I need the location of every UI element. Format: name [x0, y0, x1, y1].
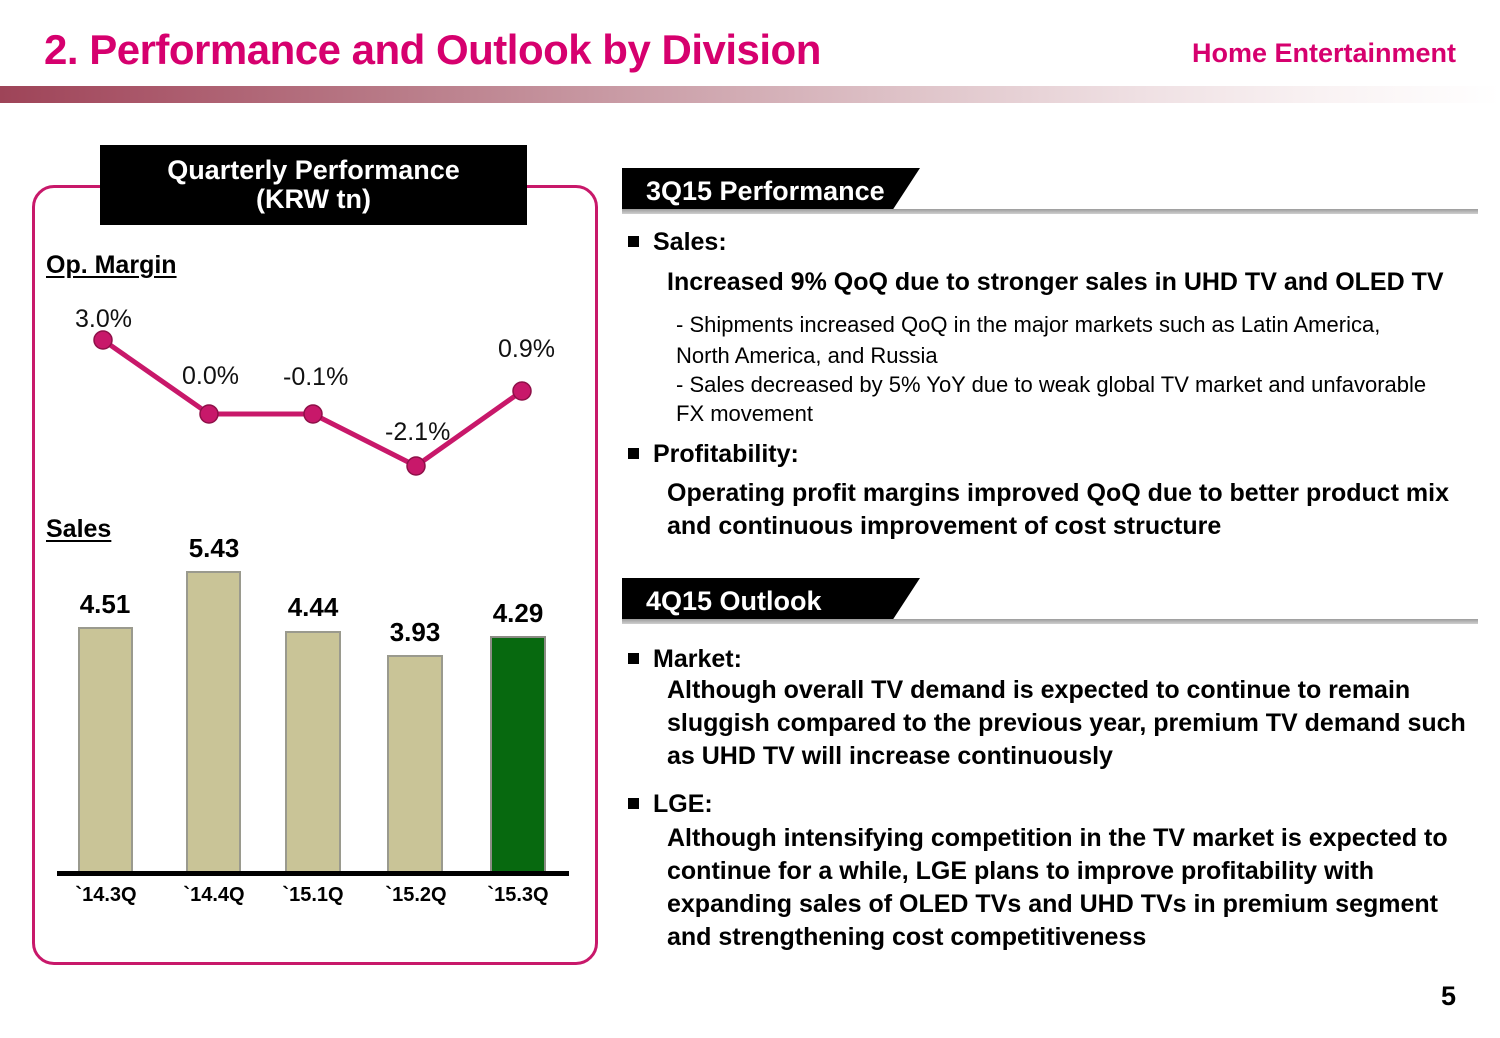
bar-15-2q — [387, 655, 443, 873]
square-bullet-icon — [628, 448, 639, 459]
x-tick-14-3q: `14.3Q — [56, 884, 156, 907]
op-margin-label-2: -0.1% — [283, 363, 348, 392]
bullet-sales-head: Sales: — [628, 228, 727, 257]
bullet-market-head: Market: — [628, 645, 742, 674]
bullet-sales-sub-3: FX movement — [676, 398, 1466, 429]
outlook-section-rule — [622, 619, 1478, 624]
square-bullet-icon — [628, 236, 639, 247]
page-number: 5 — [1441, 981, 1456, 1012]
bullet-sales-body: Increased 9% QoQ due to stronger sales i… — [667, 266, 1467, 299]
op-margin-section-label: Op. Margin — [46, 251, 177, 280]
bullet-sales-head-text: Sales: — [653, 228, 727, 256]
header-divider-rule — [0, 86, 1500, 103]
bar-value-14-3q: 4.51 — [55, 589, 155, 620]
op-margin-label-4: 0.9% — [498, 335, 555, 364]
bullet-profitability-head: Profitability: — [628, 440, 799, 469]
chart-banner-line2: (KRW tn) — [256, 185, 371, 214]
bullet-profitability-head-text: Profitability: — [653, 440, 799, 468]
x-tick-15-2q: `15.2Q — [366, 884, 466, 907]
performance-section-banner: 3Q15 Performance — [622, 168, 920, 214]
bullet-sales-sub-2: - Sales decreased by 5% YoY due to weak … — [676, 369, 1466, 400]
slide-canvas: 2. Performance and Outlook by Division H… — [0, 0, 1500, 1038]
chart-title-banner: Quarterly Performance (KRW tn) — [100, 145, 527, 225]
bar-value-15-2q: 3.93 — [365, 617, 465, 648]
bullet-market-head-text: Market: — [653, 645, 742, 673]
chart-banner-line1: Quarterly Performance — [167, 156, 460, 185]
bullet-market-body: Although overall TV demand is expected t… — [667, 674, 1467, 773]
performance-section-rule — [622, 209, 1478, 214]
x-tick-14-4q: `14.4Q — [164, 884, 264, 907]
division-label: Home Entertainment — [1192, 38, 1456, 69]
bullet-lge-head-text: LGE: — [653, 790, 713, 818]
bullet-profitability-body: Operating profit margins improved QoQ du… — [667, 477, 1467, 543]
x-axis-line — [57, 871, 569, 876]
bar-14-4q — [186, 571, 241, 873]
bar-15-3q — [490, 636, 546, 873]
bar-14-3q — [78, 627, 133, 873]
op-margin-label-1: 0.0% — [182, 362, 239, 391]
bar-value-15-3q: 4.29 — [468, 598, 568, 629]
x-tick-15-1q: `15.1Q — [263, 884, 363, 907]
page-title: 2. Performance and Outlook by Division — [44, 26, 821, 74]
op-margin-label-3: -2.1% — [385, 418, 450, 447]
outlook-section-banner: 4Q15 Outlook — [622, 578, 920, 624]
bar-15-1q — [285, 631, 341, 873]
sales-section-label: Sales — [46, 515, 111, 544]
performance-section-title: 3Q15 Performance — [646, 168, 885, 214]
bullet-sales-sub-0: - Shipments increased QoQ in the major m… — [676, 309, 1466, 340]
bullet-lge-head: LGE: — [628, 790, 713, 819]
op-margin-label-0: 3.0% — [75, 305, 132, 334]
x-tick-15-3q: `15.3Q — [468, 884, 568, 907]
square-bullet-icon — [628, 653, 639, 664]
bullet-lge-body: Although intensifying competition in the… — [667, 822, 1477, 954]
outlook-section-title: 4Q15 Outlook — [646, 578, 822, 624]
bullet-sales-sub-1: North America, and Russia — [676, 340, 1466, 371]
bar-value-15-1q: 4.44 — [263, 592, 363, 623]
square-bullet-icon — [628, 798, 639, 809]
bar-value-14-4q: 5.43 — [164, 533, 264, 564]
